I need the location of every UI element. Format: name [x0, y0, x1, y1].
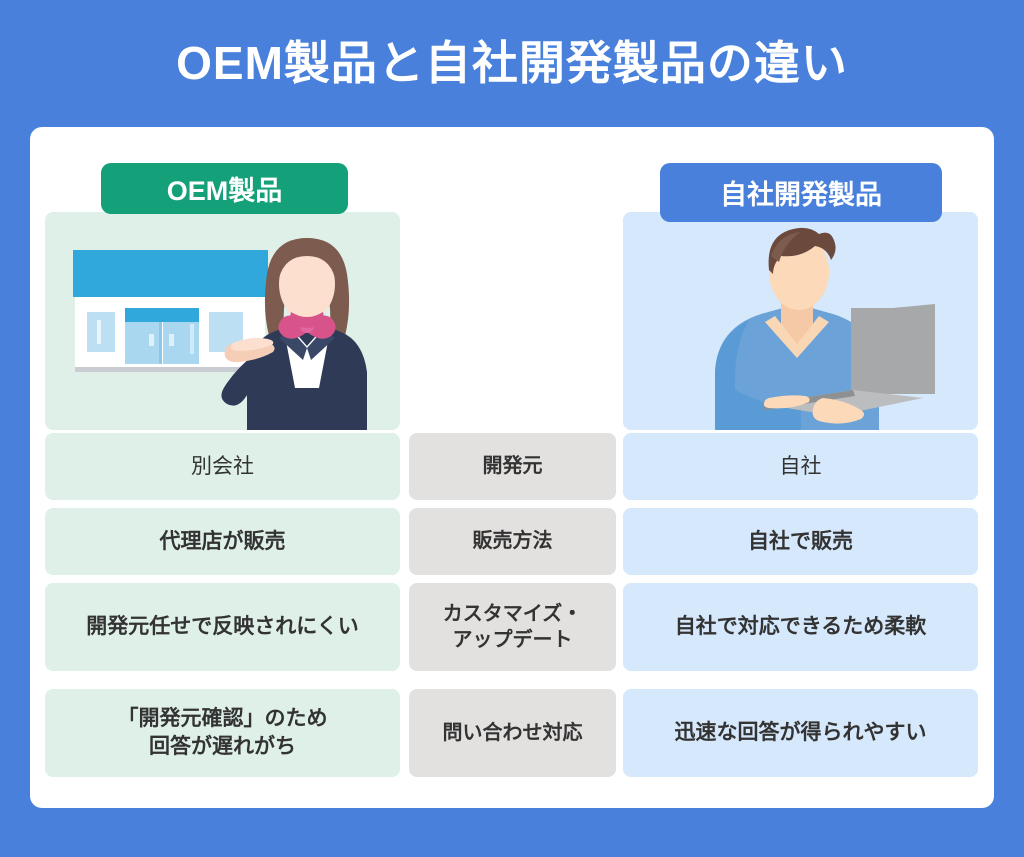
table-row-label-2: 販売方法: [409, 508, 616, 575]
table-row-label-3-line1: カスタマイズ・: [443, 601, 582, 627]
infographic-page: OEM製品と自社開発製品の違い OEM製品 自社開発製品: [0, 0, 1024, 857]
developer-laptop-icon: [623, 212, 978, 430]
table-cell-oem-1: 別会社: [45, 433, 400, 500]
illustration-panel-own: [623, 212, 978, 430]
table-cell-own-1: 自社: [623, 433, 978, 500]
illustration-panel-oem: [45, 212, 400, 430]
column-header-oem: OEM製品: [101, 163, 348, 214]
table-cell-own-2: 自社で販売: [623, 508, 978, 575]
page-title: OEM製品と自社開発製品の違い: [0, 34, 1024, 92]
table-cell-oem-4: 「開発元確認」のため 回答が遅れがち: [45, 689, 400, 777]
table-cell-oem-4-line2: 回答が遅れがち: [118, 733, 328, 761]
table-row-label-1: 開発元: [409, 433, 616, 500]
table-cell-oem-4-line1: 「開発元確認」のため: [118, 705, 328, 733]
table-cell-own-3: 自社で対応できるため柔軟: [623, 583, 978, 671]
shop-staff-icon: [45, 212, 400, 430]
table-cell-oem-2: 代理店が販売: [45, 508, 400, 575]
table-row-label-3: カスタマイズ・ アップデート: [409, 583, 616, 671]
table-cell-oem-3: 開発元任せで反映されにくい: [45, 583, 400, 671]
column-header-own: 自社開発製品: [660, 163, 942, 222]
table-cell-own-4: 迅速な回答が得られやすい: [623, 689, 978, 777]
table-row-label-4: 問い合わせ対応: [409, 689, 616, 777]
table-row-label-3-line2: アップデート: [443, 627, 582, 653]
